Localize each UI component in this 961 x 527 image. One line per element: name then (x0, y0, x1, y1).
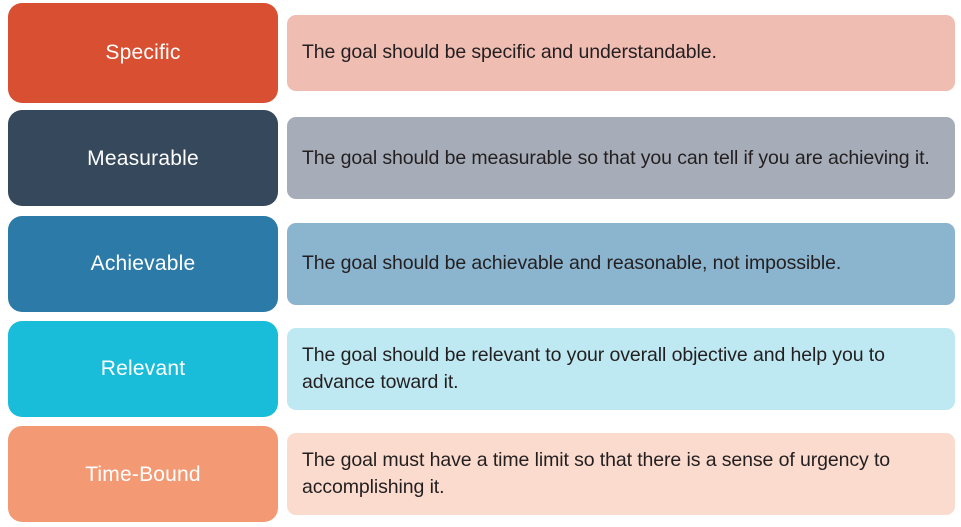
description-panel-measurable: The goal should be measurable so that yo… (287, 117, 955, 199)
description-panel-relevant: The goal should be relevant to your over… (287, 328, 955, 410)
criterion-row-time-bound: Time-Bound The goal must have a time lim… (0, 422, 961, 527)
criterion-chip-relevant: Relevant (8, 321, 278, 417)
criterion-chip-specific: Specific (8, 3, 278, 103)
criterion-row-relevant: Relevant The goal should be relevant to … (0, 316, 961, 421)
description-panel-time-bound: The goal must have a time limit so that … (287, 433, 955, 515)
criterion-label-relevant: Relevant (101, 357, 185, 380)
description-text-specific: The goal should be specific and understa… (302, 39, 717, 66)
criterion-chip-measurable: Measurable (8, 110, 278, 206)
description-panel-specific: The goal should be specific and understa… (287, 15, 955, 91)
criterion-row-measurable: Measurable The goal should be measurable… (0, 105, 961, 210)
criterion-chip-achievable: Achievable (8, 216, 278, 312)
description-text-time-bound: The goal must have a time limit so that … (302, 447, 939, 501)
description-panel-achievable: The goal should be achievable and reason… (287, 223, 955, 305)
criterion-row-achievable: Achievable The goal should be achievable… (0, 211, 961, 316)
description-text-measurable: The goal should be measurable so that yo… (302, 145, 930, 172)
criterion-chip-time-bound: Time-Bound (8, 426, 278, 522)
criterion-label-specific: Specific (105, 41, 180, 64)
criterion-label-measurable: Measurable (87, 147, 199, 170)
criterion-row-specific: Specific The goal should be specific and… (0, 0, 961, 105)
criterion-label-time-bound: Time-Bound (85, 463, 201, 486)
smart-goals-diagram: Specific The goal should be specific and… (0, 0, 961, 527)
description-text-achievable: The goal should be achievable and reason… (302, 250, 841, 277)
description-text-relevant: The goal should be relevant to your over… (302, 342, 939, 396)
criterion-label-achievable: Achievable (91, 252, 196, 275)
